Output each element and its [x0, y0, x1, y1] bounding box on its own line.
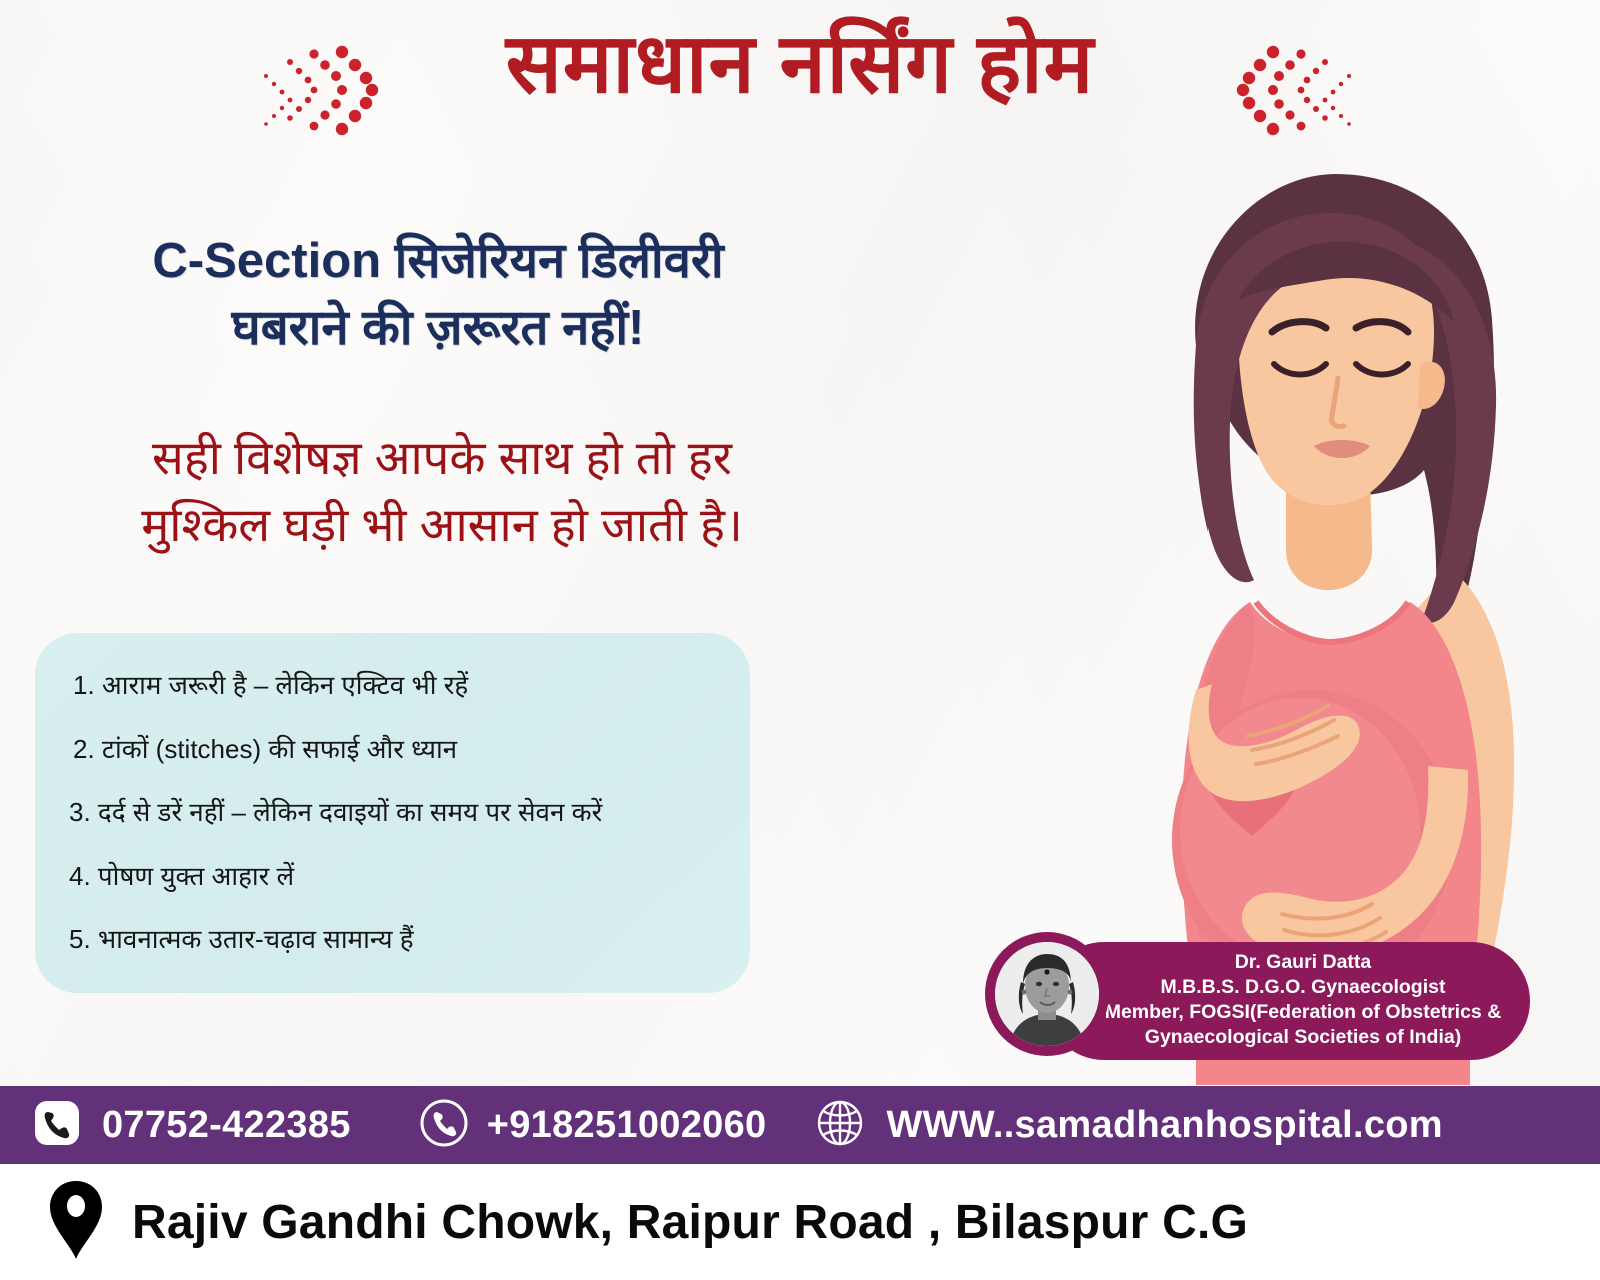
website-url: WWW..samadhanhospital.com [886, 1104, 1442, 1147]
doctor-name: Dr. Gauri Datta [1083, 950, 1523, 975]
contact-mobile[interactable]: +918251002060 [419, 1098, 767, 1153]
badge-text: Dr. Gauri Datta M.B.B.S. D.G.O. Gynaecol… [1083, 950, 1523, 1051]
address-text: Rajiv Gandhi Chowk, Raipur Road , Bilasp… [132, 1195, 1248, 1250]
mobile-number: +918251002060 [487, 1104, 767, 1147]
headline-line-1: C-Section सिजेरियन डिलीवरी [38, 228, 838, 295]
list-item: 5. भावनात्मक उतार-चढ़ाव सामान्य हैं [57, 923, 720, 956]
list-item: 1. आराम जरूरी है – लेकिन एक्टिव भी रहें [57, 669, 720, 702]
globe-icon [814, 1097, 866, 1154]
page-title: समाधान नर्सिंग होम [400, 18, 1200, 111]
headline-line-2: घबराने की ज़रूरत नहीं! [38, 295, 838, 362]
doctor-credentials-badge: Dr. Gauri Datta M.B.B.S. D.G.O. Gynaecol… [985, 932, 1530, 1060]
subheadline-line-1: सही विशेषज्ञ आपके साथ हो तो हर [22, 425, 862, 492]
address-bar: Rajiv Gandhi Chowk, Raipur Road , Bilasp… [0, 1164, 1600, 1280]
list-item: 2. टांकों (stitches) की सफाई और ध्यान [57, 733, 720, 766]
landline-number: 07752-422385 [102, 1104, 351, 1147]
doctor-membership-line-2: Gynaecological Societies of India) [1083, 1025, 1523, 1050]
location-pin-icon [46, 1178, 106, 1267]
tips-card: 1. आराम जरूरी है – लेकिन एक्टिव भी रहें … [35, 633, 750, 993]
poster-header: समाधान नर्सिंग होम [0, 0, 1600, 165]
list-item: 4. पोषण युक्त आहार लें [57, 860, 720, 893]
contact-website[interactable]: WWW..samadhanhospital.com [814, 1097, 1442, 1154]
phone-square-icon [34, 1100, 80, 1151]
subheadline-line-2: मुश्किल घड़ी भी आसान हो जाती है। [22, 492, 862, 559]
contact-landline[interactable]: 07752-422385 [34, 1100, 351, 1151]
poster-canvas: समाधान नर्सिंग होम [0, 0, 1600, 1280]
contact-bar: 07752-422385 +918251002060 [0, 1086, 1600, 1164]
list-item: 3. दर्द से डरें नहीं – लेकिन दवाइयों का … [57, 796, 720, 829]
doctor-qualification: M.B.B.S. D.G.O. Gynaecologist [1083, 975, 1523, 1000]
doctor-membership-line-1: Member, FOGSI(Federation of Obstetrics & [1083, 1000, 1523, 1025]
headline: C-Section सिजेरियन डिलीवरी घबराने की ज़र… [38, 228, 838, 361]
chevron-double-left-dots-icon [1232, 30, 1357, 150]
avatar [985, 932, 1109, 1056]
doctor-portrait-photo [995, 942, 1099, 1046]
phone-circle-icon [419, 1098, 469, 1153]
subheadline: सही विशेषज्ञ आपके साथ हो तो हर मुश्किल घ… [22, 425, 862, 558]
chevron-double-right-dots-icon [258, 30, 383, 150]
